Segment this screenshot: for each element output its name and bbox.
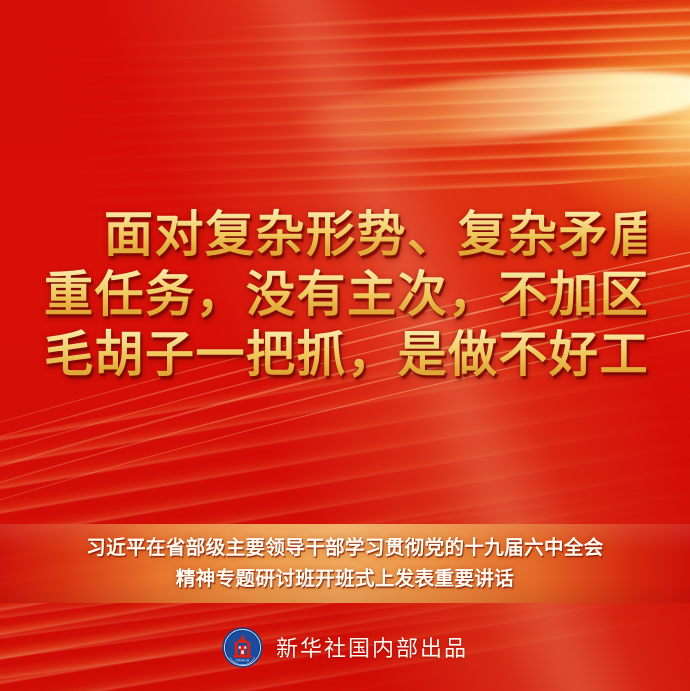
quote-line-3: 毛胡子一把抓，是做不好工作的。 <box>44 325 646 385</box>
quote-line-2: 重任务，没有主次，不加区别，眉 <box>44 265 646 325</box>
xinhua-news-agency-logo-icon: XINHUA <box>222 627 263 668</box>
quote-line-1: 面对复杂形势、复杂矛盾、繁 <box>44 205 646 265</box>
footer-label: 新华社国内部出品 <box>276 631 468 663</box>
caption-band: 习近平在省部级主要领导干部学习贯彻党的十九届六中全会 精神专题研讨班开班式上发表… <box>0 524 690 603</box>
footer: XINHUA 新华社国内部出品 <box>0 618 690 676</box>
quote-poster: 面对复杂形势、复杂矛盾、繁 重任务，没有主次，不加区别，眉 毛胡子一把抓，是做不… <box>0 0 690 691</box>
quote-block: 面对复杂形势、复杂矛盾、繁 重任务，没有主次，不加区别，眉 毛胡子一把抓，是做不… <box>0 205 690 385</box>
svg-text:XINHUA: XINHUA <box>236 658 250 662</box>
caption-line-2: 精神专题研讨班开班式上发表重要讲话 <box>176 564 514 595</box>
caption-line-1: 习近平在省部级主要领导干部学习贯彻党的十九届六中全会 <box>86 533 603 564</box>
